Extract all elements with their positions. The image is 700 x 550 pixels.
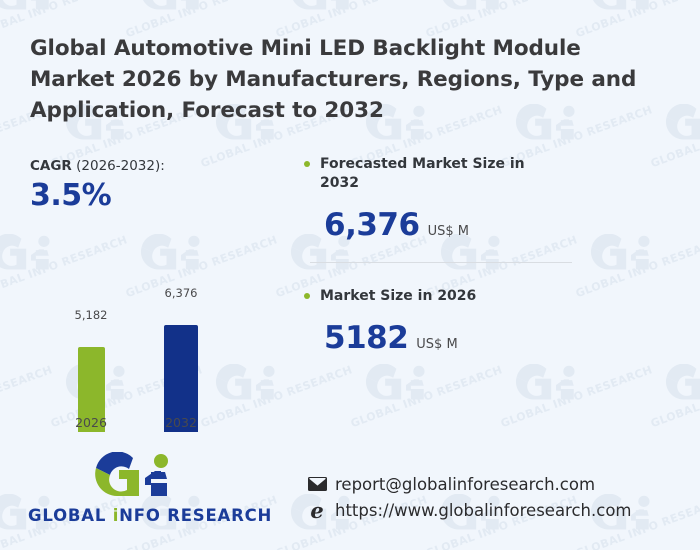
page-title: Global Automotive Mini LED Backlight Mod… bbox=[30, 33, 655, 126]
logo-word-global: GLOBAL bbox=[28, 506, 113, 525]
bullet-dot-icon bbox=[304, 293, 310, 299]
bar-value-label-2026: 5,182 bbox=[75, 308, 108, 322]
logo-word-info-research: NFO RESEARCH bbox=[119, 506, 272, 525]
internet-explorer-icon: e bbox=[306, 499, 328, 521]
bar-value-label-2032: 6,376 bbox=[165, 286, 198, 300]
bar-category-2032: 2032 bbox=[165, 415, 197, 430]
kpi-unit: US$ M bbox=[428, 224, 469, 239]
email-address[interactable]: report@globalinforesearch.com bbox=[335, 475, 595, 494]
report-cover-page: GLOBAL INFO RESEARCHGLOBAL INFO RESEARCH… bbox=[0, 0, 700, 550]
content-layer: Global Automotive Mini LED Backlight Mod… bbox=[0, 0, 700, 550]
kpi-heading-row: Forecasted Market Size in 2032 bbox=[300, 155, 675, 193]
bullet-dot-icon bbox=[304, 161, 310, 167]
market-size-bar-chart: 5,182 2026 6,376 2032 bbox=[40, 282, 240, 432]
cagr-block: CAGR (2026-2032): 3.5% bbox=[30, 158, 165, 213]
cagr-label-rest: (2026-2032): bbox=[72, 158, 165, 174]
logo-wordmark: GLOBAL iNFO RESEARCH bbox=[28, 506, 242, 525]
kpi-heading-text: Market Size in 2026 bbox=[320, 287, 476, 306]
kpi-value: 5182 bbox=[324, 320, 408, 356]
kpi-value: 6,376 bbox=[324, 207, 420, 243]
kpi-panel: Forecasted Market Size in 2032 6,376 US$… bbox=[300, 155, 675, 356]
website-url[interactable]: https://www.globalinforesearch.com bbox=[335, 501, 632, 520]
contact-block: report@globalinforesearch.com e https://… bbox=[306, 473, 686, 525]
cagr-label: CAGR (2026-2032): bbox=[30, 158, 165, 174]
envelope-icon bbox=[306, 473, 328, 495]
kpi-forecasted-market-size: Forecasted Market Size in 2032 6,376 US$… bbox=[300, 155, 675, 243]
gi-logo-mark-icon bbox=[89, 452, 181, 504]
cagr-label-bold: CAGR bbox=[30, 158, 72, 174]
kpi-value-row: 5182 US$ M bbox=[324, 320, 675, 356]
kpi-heading-text: Forecasted Market Size in 2032 bbox=[320, 155, 535, 193]
cagr-value: 3.5% bbox=[30, 178, 165, 213]
panel-divider bbox=[310, 262, 572, 263]
bar-category-2026: 2026 bbox=[75, 415, 107, 430]
company-logo: GLOBAL iNFO RESEARCH bbox=[28, 452, 242, 525]
ie-e-glyph: e bbox=[310, 500, 323, 521]
kpi-value-row: 6,376 US$ M bbox=[324, 207, 675, 243]
contact-row-website[interactable]: e https://www.globalinforesearch.com bbox=[306, 499, 686, 521]
kpi-unit: US$ M bbox=[416, 337, 457, 352]
kpi-heading-row: Market Size in 2026 bbox=[300, 287, 675, 306]
kpi-market-size-2026: Market Size in 2026 5182 US$ M bbox=[300, 287, 675, 356]
contact-row-email[interactable]: report@globalinforesearch.com bbox=[306, 473, 686, 495]
